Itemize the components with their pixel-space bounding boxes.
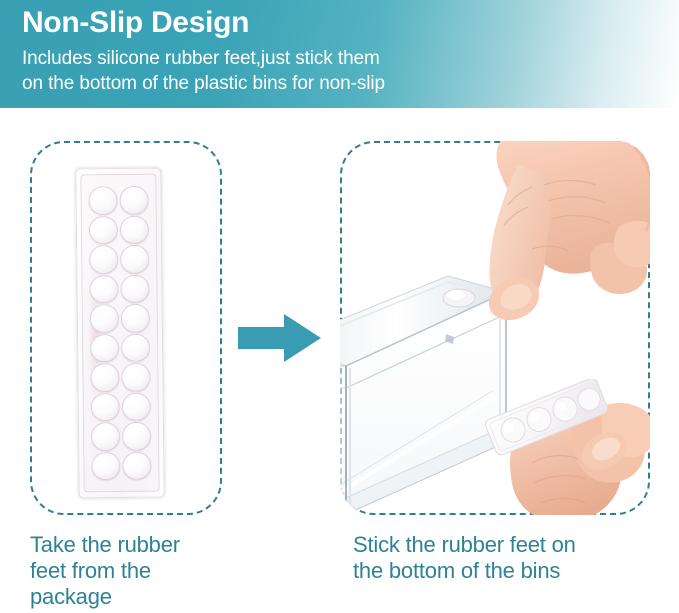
caption-right-line-2: the bottom of the bins [353,558,653,584]
hand-holding-rubber-feet-strip [480,379,650,515]
rubber-foot-bump [91,422,120,451]
rubber-foot-bump [122,392,151,421]
rubber-foot-bump [121,363,150,392]
rubber-foot-bump [89,245,118,274]
rubber-feet-grid [88,186,151,481]
page-subtitle-line-1: Includes silicone rubber feet,just stick… [22,46,385,71]
hand-pressing-rubber-foot [448,141,650,407]
rubber-foot-bump [121,304,150,333]
page-subtitle-line-2: on the bottom of the plastic bins for no… [22,71,385,96]
caption-left-line-3: package [30,584,250,610]
blister-inner-tray [80,174,159,493]
caption-right: Stick the rubber feet on the bottom of t… [353,532,653,584]
caption-left-line-1: Take the rubber [30,532,250,558]
rubber-foot-bump [120,274,149,303]
header-banner: Non-Slip Design Includes silicone rubber… [0,0,679,108]
rubber-foot-bump [90,334,119,363]
page-title: Non-Slip Design [22,6,249,40]
rubber-foot-bump [90,304,119,333]
rubber-foot-bump [91,393,120,422]
flow-arrow [238,313,322,363]
rubber-foot-bump [89,275,118,304]
rubber-foot-bump [119,186,148,215]
rubber-foot-bump [122,422,151,451]
bin-and-hands-scene [340,141,650,515]
rubber-foot-bump [120,215,149,244]
rubber-foot-bump [121,333,150,362]
rubber-foot-bump [120,245,149,274]
caption-left-line-2: feet from the [30,558,250,584]
caption-left: Take the rubber feet from the package [30,532,250,610]
caption-right-line-1: Stick the rubber feet on [353,532,653,558]
rubber-foot-bump [122,451,151,480]
rubber-foot-bump [91,452,120,481]
rubber-feet-blister-pack [75,168,164,499]
rubber-foot-bump [90,363,119,392]
page-subtitle: Includes silicone rubber feet,just stick… [22,46,385,96]
rubber-foot-bump [89,216,118,245]
rubber-foot-bump [88,186,117,215]
